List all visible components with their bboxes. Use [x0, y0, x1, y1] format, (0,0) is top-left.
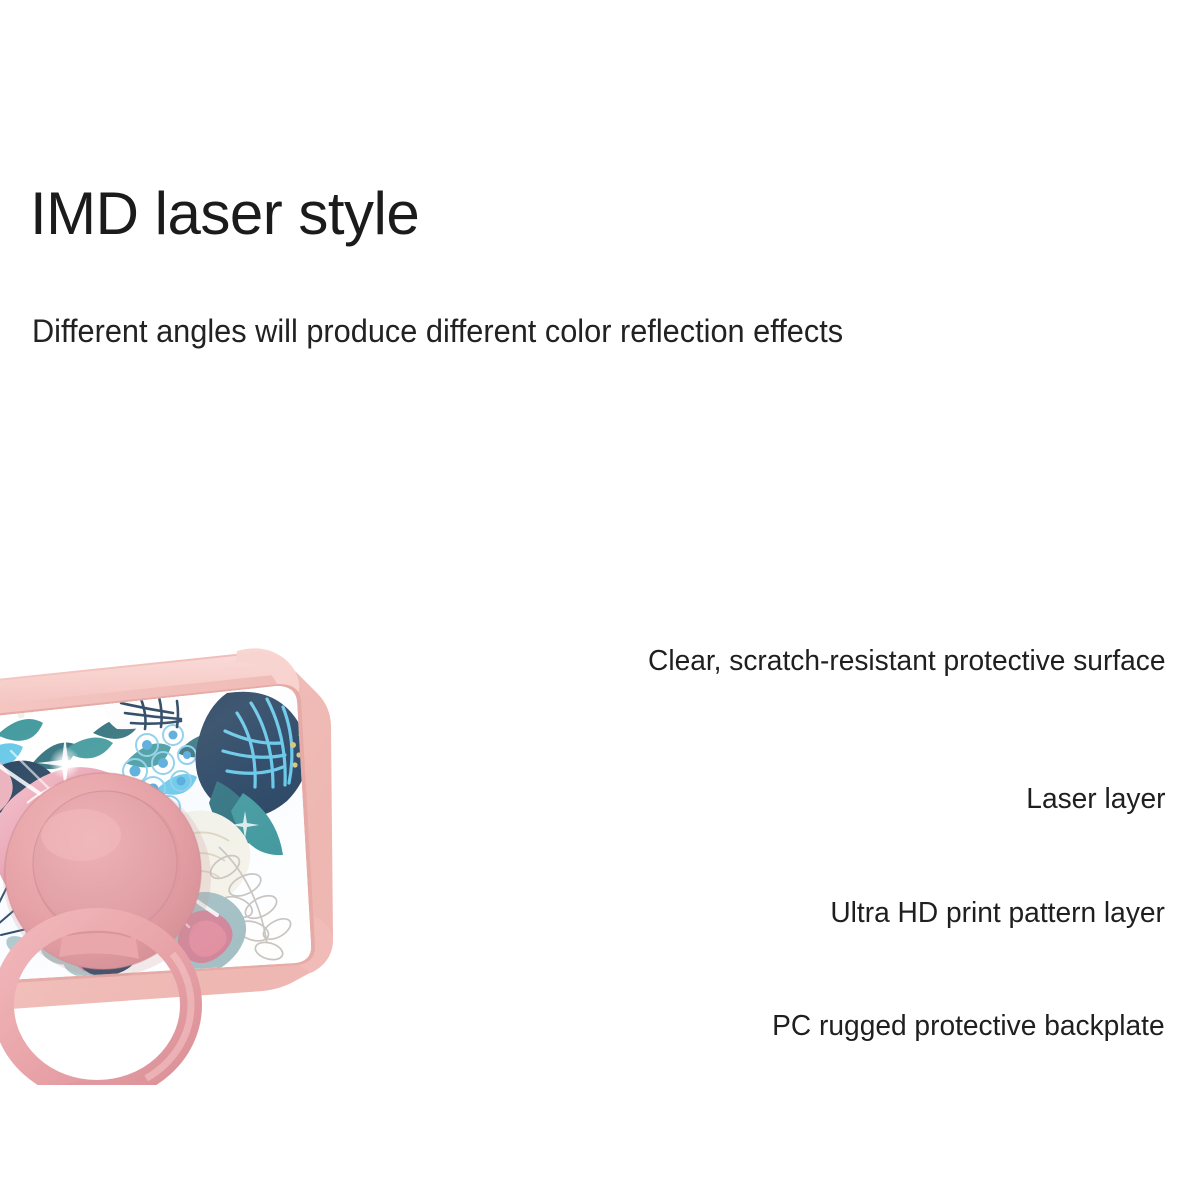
page-subtitle: Different angles will produce different …	[32, 312, 843, 350]
callout-label-protective-surface: Clear, scratch-resistant protective surf…	[648, 645, 1165, 678]
callout-label-laser-layer: Laser layer	[1026, 783, 1165, 816]
phone-case-image	[0, 585, 545, 1085]
callout-label-print-pattern-layer: Ultra HD print pattern layer	[830, 897, 1165, 930]
product-detail-page: IMD laser style Different angles will pr…	[0, 0, 1200, 1200]
ring-holder	[3, 773, 211, 1085]
callout-label-backplate: PC rugged protective backplate	[772, 1010, 1165, 1043]
page-title: IMD laser style	[30, 182, 419, 245]
